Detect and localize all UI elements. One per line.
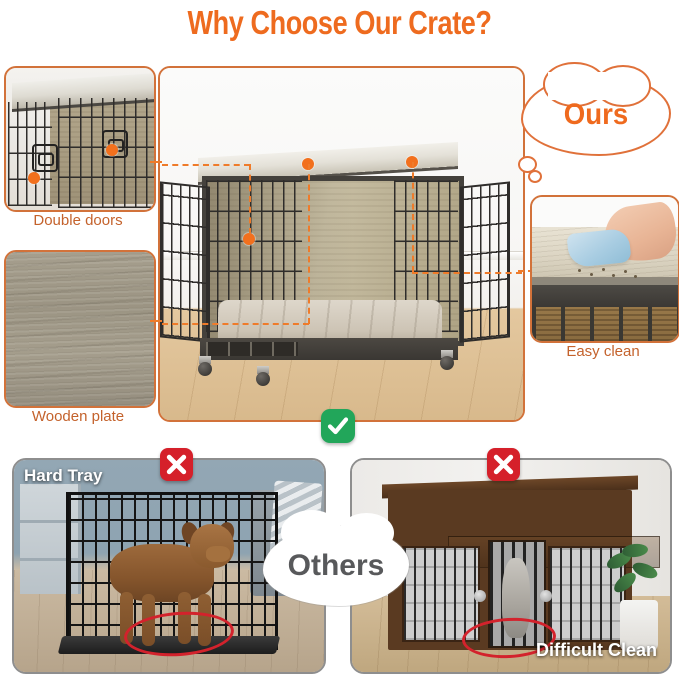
caption-easy-clean: Easy clean [530,343,676,360]
rustic-crate-door-left [402,546,480,642]
x-badge-hard-tray [160,448,193,481]
latch-left-icon [32,144,58,172]
crumbs-debris [574,267,640,279]
callout-dot-door-latch [243,233,255,245]
crate-base-rail [200,338,458,360]
check-badge [321,409,355,443]
ours-bubble-tail-small [528,170,542,183]
caster-wheel-front-center [254,366,272,388]
product-crate [166,150,504,372]
wooden-plate-texture [6,252,154,406]
x-badge-difficult-clean [487,448,520,481]
feature-panel-easy-clean[interactable] [530,195,679,343]
callout-line-top-vertical [308,164,310,324]
caster-wheel-front-left [196,356,214,378]
callout-line-plate-horizontal [162,323,309,325]
callout-dot-latch-right [106,144,118,156]
label-hard-tray: Hard Tray [24,466,102,486]
storage-baskets [532,307,678,341]
callout-line-clean-vertical [412,162,414,272]
callout-dot-latch-left [28,172,40,184]
callout-line-clean-horizontal [412,272,522,274]
others-thought-bubble: Others [263,526,409,606]
crate-open-door-left [160,181,210,342]
main-product-panel[interactable] [158,66,525,422]
ours-label: Ours [527,74,665,156]
ours-thought-bubble: Ours [521,74,671,156]
easy-clean-photo [532,197,678,341]
connector-doors-to-main [150,161,162,163]
feature-panel-double-doors[interactable] [4,66,156,212]
feature-panel-wooden-plate[interactable] [4,250,156,408]
connector-plate-to-main [150,320,162,322]
page-title: Why Choose Our Crate? [61,4,618,42]
label-difficult-clean: Difficult Clean [536,640,657,661]
caption-double-doors: Double doors [4,212,152,229]
callout-line-latch-horizontal [162,164,250,166]
callout-line-latch-vertical [249,164,251,234]
hinge-right-icon [540,590,552,602]
caption-wooden-plate: Wooden plate [4,408,152,425]
crate-dark-rail [532,285,678,307]
hinge-left-icon [474,590,486,602]
main-product-photo [160,68,523,420]
double-doors-photo [6,68,154,210]
infographic-root: Why Choose Our Crate? Double doors Woode… [0,0,679,675]
crate-open-door-right [460,181,510,342]
caster-wheel-rear-right [438,350,456,372]
others-label: Others [263,526,409,606]
cleaning-cloth [566,228,631,268]
background-plant [606,544,664,606]
